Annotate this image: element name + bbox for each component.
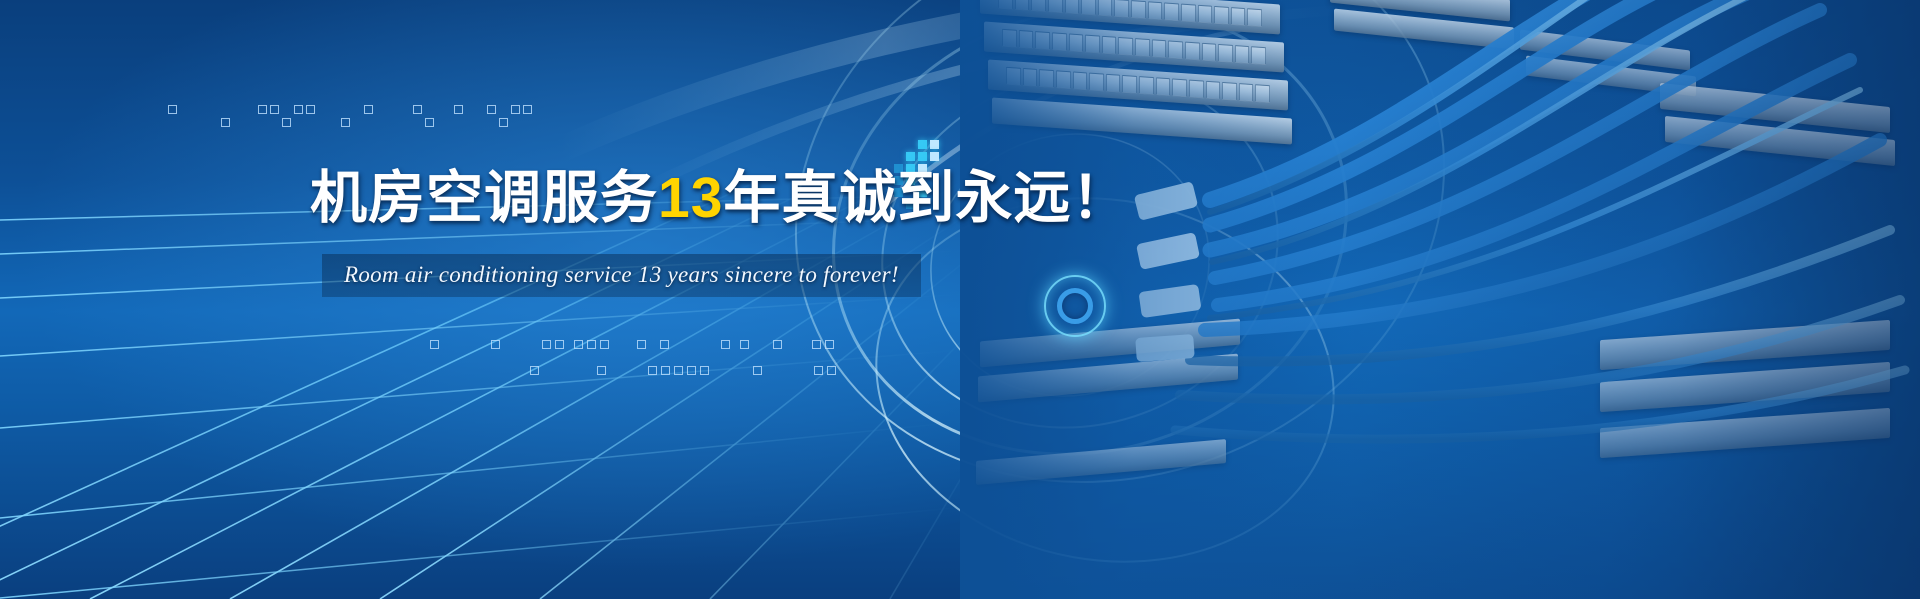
hero-banner: 机房空调服务13年真诚到永远！ Room air conditioning se… <box>0 0 1920 599</box>
perspective-grid <box>0 180 1060 599</box>
page-title: 机房空调服务13年真诚到永远！ <box>310 168 1129 230</box>
subtitle-text: Room air conditioning service 13 years s… <box>344 262 899 288</box>
pixel-pattern-bottom-second-row <box>530 366 910 380</box>
headline-accent-number: 13 <box>658 166 723 230</box>
headline-part2: 年真诚到永远！ <box>723 166 1129 230</box>
pixel-pattern-bottom <box>430 340 900 364</box>
headline-part1: 机房空调服务 <box>310 166 658 230</box>
pixel-pattern-top <box>168 105 548 127</box>
glow-ring-icon <box>1044 275 1106 337</box>
subtitle-band: Room air conditioning service 13 years s… <box>322 254 921 297</box>
